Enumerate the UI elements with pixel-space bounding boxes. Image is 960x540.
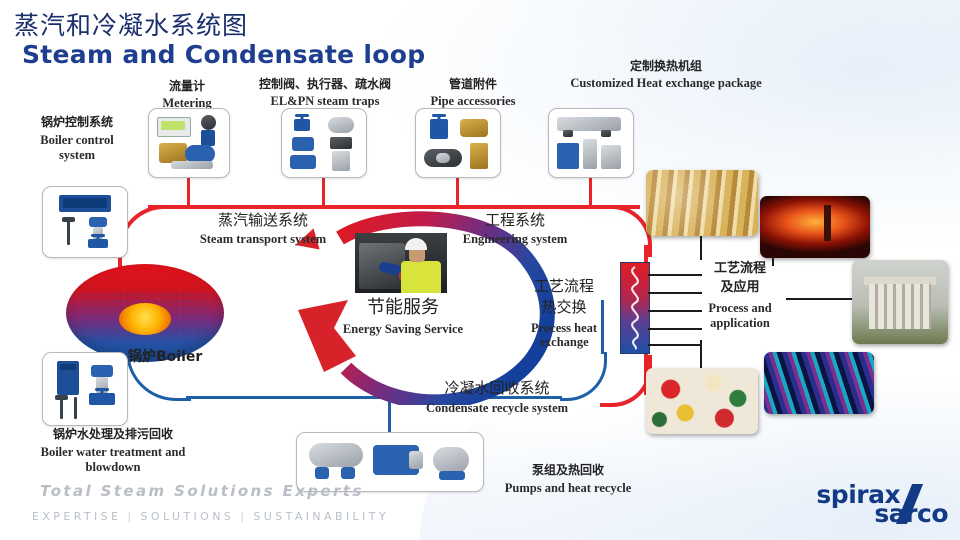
- leader-to-pills: [700, 340, 702, 368]
- steam-drop-traps: [322, 176, 325, 206]
- label-heat-exchange-package: 定制换热机组 Customized Heat exchange package: [546, 60, 786, 90]
- pillar-separator-2: |: [234, 510, 253, 523]
- engineer-helmet: [405, 238, 427, 250]
- product-box-boiler-control[interactable]: [42, 186, 128, 258]
- heat-exchanger: [620, 262, 650, 354]
- refinery-photo: [760, 196, 870, 258]
- energy-saving-service-photo: [355, 233, 447, 293]
- pillar-solutions: SOLUTIONS: [141, 510, 235, 523]
- pillar-sustainability: SUSTAINABILITY: [253, 510, 389, 523]
- label-metering: 流量计 Metering: [152, 80, 222, 110]
- spirax-sarco-logo: spirax sarco: [816, 482, 948, 526]
- leader-to-cans: [700, 236, 702, 260]
- heat-exchanger-coil: [623, 265, 647, 351]
- label-pumps-heat-recycle: 泵组及热回收 Pumps and heat recycle: [480, 464, 656, 495]
- product-box-steam-traps[interactable]: [281, 108, 367, 178]
- textile-photo: [764, 352, 874, 414]
- steam-drop-metering: [187, 176, 190, 206]
- leader-to-building: [786, 298, 852, 300]
- tagline: Total Steam Solutions Experts: [40, 482, 364, 500]
- label-condensate-recycle: 冷凝水回收系统 Condensate recycle system: [405, 380, 589, 415]
- engineer-vest: [401, 261, 441, 293]
- brand-pillars: EXPERTISE|SOLUTIONS|SUSTAINABILITY: [32, 510, 389, 523]
- food-cans-photo: [646, 170, 758, 236]
- product-box-pipe-accessories[interactable]: [415, 108, 501, 178]
- label-energy-saving-service: 节能服务 Energy Saving Service: [318, 298, 488, 336]
- steam-pipe-corner-bottomright: [600, 355, 652, 407]
- label-boiler-water-treatment: 锅炉水处理及排污回收 Boiler water treatment and bl…: [28, 428, 198, 475]
- steam-drop-heat-package: [589, 176, 592, 206]
- page-title-chinese: 蒸汽和冷凝水系统图: [14, 6, 248, 42]
- heat-exchanger-lead-5: [648, 344, 702, 346]
- label-pipe-accessories: 管道附件 Pipe accessories: [418, 78, 528, 108]
- pillar-expertise: EXPERTISE: [32, 510, 121, 523]
- product-box-heat-exchange-package[interactable]: [548, 108, 634, 178]
- label-boiler-control-system: 锅炉控制系统 Boiler control system: [24, 116, 130, 163]
- boiler-label: 锅炉Boiler: [128, 350, 238, 366]
- steam-pipe-top-trunk: [148, 205, 640, 209]
- label-steam-transport: 蒸汽输送系统 Steam transport system: [178, 212, 348, 246]
- institution-building-photo: [852, 260, 948, 344]
- label-process-heat-exchange: 工艺流程 热交换 Process heat exchange: [512, 278, 616, 349]
- label-process-and-application: 工艺流程 及应用 Process and application: [690, 262, 790, 331]
- boiler-flame: [119, 303, 171, 335]
- leader-to-refinery: [772, 258, 774, 266]
- page-title-english: Steam and Condensate loop: [22, 40, 425, 69]
- slide-canvas: 蒸汽和冷凝水系统图 Steam and Condensate loop 锅炉Bo…: [0, 0, 960, 540]
- label-engineering-system: 工程系统 Engineering system: [440, 212, 590, 246]
- pillar-separator-1: |: [121, 510, 140, 523]
- pharmaceutical-pills-photo: [646, 368, 758, 434]
- steam-drop-pipe-accessories: [456, 176, 459, 206]
- label-steam-traps: 控制阀、执行器、疏水阀 EL&PN steam traps: [250, 78, 400, 108]
- product-box-boiler-water-treatment[interactable]: [42, 352, 128, 426]
- boiler-vessel: [66, 264, 224, 362]
- product-box-metering[interactable]: [148, 108, 230, 178]
